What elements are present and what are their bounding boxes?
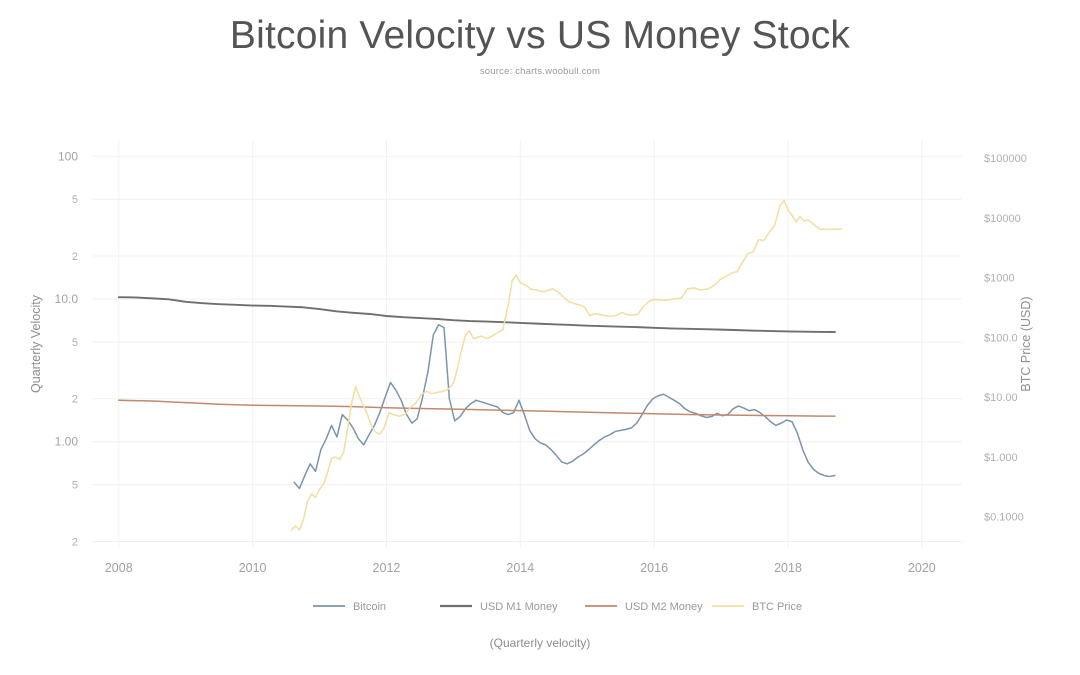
legend-label-usd-m2-money[interactable]: USD M2 Money: [625, 601, 703, 613]
y2-axis-tick-label: $100000: [984, 153, 1027, 165]
y-axis-tick-label: 100: [58, 149, 78, 163]
y-axis-tick-label: 2: [72, 251, 78, 263]
y-axis-tick-label: 5: [72, 480, 78, 492]
chart-container: Bitcoin Velocity vs US Money Stock sourc…: [0, 0, 1080, 675]
chart-svg: 1005210.0521.0052$100000$10000$1000$100.…: [0, 0, 1080, 675]
y-axis-title: Quarterly Velocity: [29, 294, 43, 393]
y2-axis-tick-label: $1.000: [984, 452, 1018, 464]
y-axis-tick-label: 2: [72, 394, 78, 406]
series-line-usd-m2-money: [119, 400, 835, 416]
y-axis-tick-label: 1.00: [55, 435, 79, 449]
y-axis-tick-label: 5: [72, 337, 78, 349]
x-axis-tick-label: 2012: [373, 561, 401, 575]
y2-axis-tick-label: $10.00: [984, 392, 1018, 404]
x-axis-tick-label: 2020: [908, 561, 936, 575]
x-axis-tick-label: 2018: [774, 561, 802, 575]
legend-label-usd-m1-money[interactable]: USD M1 Money: [480, 601, 558, 613]
series-line-usd-m1-money: [119, 297, 835, 332]
y2-axis-title: BTC Price (USD): [1019, 296, 1033, 391]
legend-label-bitcoin[interactable]: Bitcoin: [353, 601, 386, 613]
y2-axis-tick-label: $0.1000: [984, 512, 1024, 524]
y2-axis-tick-label: $1000: [984, 273, 1015, 285]
x-axis-tick-label: 2008: [105, 561, 133, 575]
y2-axis-tick-label: $100.0: [984, 332, 1018, 344]
y-axis-tick-label: 10.0: [55, 292, 79, 306]
chart-caption: (Quarterly velocity): [0, 636, 1080, 650]
x-axis-tick-label: 2010: [239, 561, 267, 575]
y2-axis-tick-label: $10000: [984, 213, 1021, 225]
y-axis-tick-label: 2: [72, 536, 78, 548]
legend-label-btc-price[interactable]: BTC Price: [752, 601, 802, 613]
series-line-btc-price: [291, 200, 841, 530]
x-axis-tick-label: 2014: [506, 561, 534, 575]
y-axis-tick-label: 5: [72, 194, 78, 206]
x-axis-tick-label: 2016: [640, 561, 668, 575]
